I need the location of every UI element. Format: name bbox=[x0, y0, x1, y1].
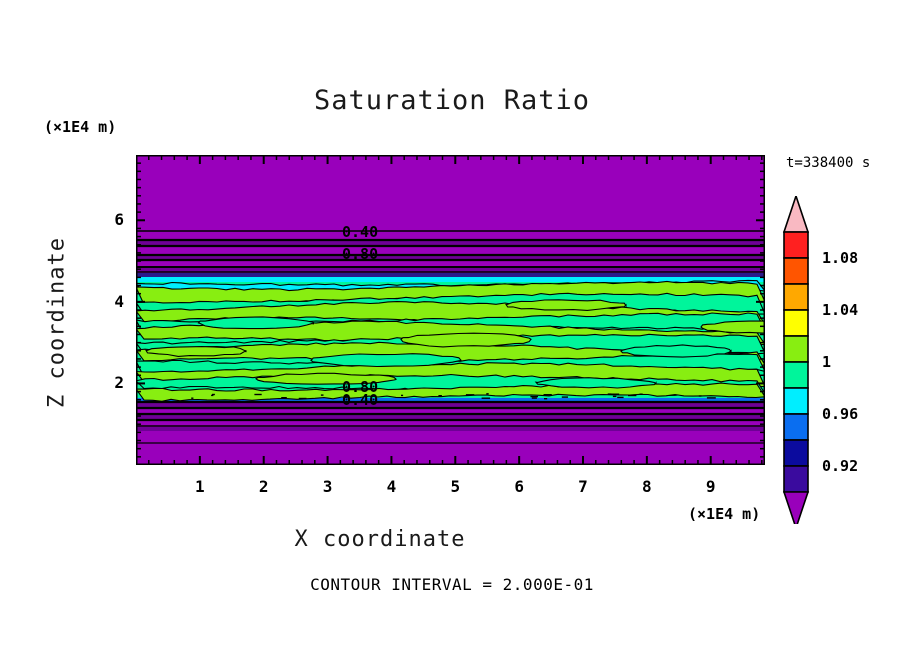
contour-inline-label: 0.80 bbox=[342, 245, 378, 263]
contour-speckle bbox=[707, 397, 716, 398]
x-tick-label: 8 bbox=[632, 477, 662, 496]
y-tick-label: 6 bbox=[94, 210, 124, 229]
contour-speckle bbox=[321, 394, 324, 395]
page-title: Saturation Ratio bbox=[0, 85, 904, 116]
contour-speckle bbox=[699, 395, 702, 396]
contour-inline-label: 0.40 bbox=[342, 391, 378, 409]
y-axis-title: Z coordinate bbox=[45, 223, 70, 423]
contour-speckle bbox=[640, 394, 643, 395]
x-tick-label: 5 bbox=[440, 477, 470, 496]
y-tick-label: 4 bbox=[94, 292, 124, 311]
x-tick-label: 3 bbox=[313, 477, 343, 496]
contour-interval-caption: CONTOUR INTERVAL = 2.000E-01 bbox=[0, 575, 904, 594]
contour-speckle bbox=[530, 396, 538, 397]
colorbar-band-1 bbox=[784, 258, 808, 284]
contour-speckle bbox=[486, 393, 488, 394]
contour-speckle bbox=[482, 398, 491, 399]
colorbar-band-0 bbox=[784, 232, 808, 258]
contour-speckle bbox=[544, 394, 552, 395]
contour-speckle bbox=[299, 398, 307, 399]
colorbar-band-7 bbox=[784, 414, 808, 440]
colorbar-band-6 bbox=[784, 388, 808, 414]
x-axis-title: X coordinate bbox=[0, 527, 760, 552]
x-tick-label: 1 bbox=[185, 477, 215, 496]
contour-speckle bbox=[617, 397, 623, 398]
colorbar-tick-label: 1 bbox=[822, 353, 831, 371]
contour-field-svg bbox=[136, 155, 765, 465]
x-tick-label: 9 bbox=[696, 477, 726, 496]
contour-speckle bbox=[281, 397, 287, 398]
contour-speckle bbox=[401, 395, 403, 396]
x-tick-label: 6 bbox=[504, 477, 534, 496]
contour-inline-label: 0.40 bbox=[342, 223, 378, 241]
x-unit-label: (×1E4 m) bbox=[688, 505, 760, 523]
colorbar-band-2 bbox=[784, 284, 808, 310]
colorbar-svg bbox=[778, 196, 818, 524]
colorbar-tick-label: 0.92 bbox=[822, 457, 858, 475]
colorbar-tick-label: 1.04 bbox=[822, 301, 858, 319]
contour-speckle bbox=[212, 394, 215, 395]
colorbar-tick-label: 0.96 bbox=[822, 405, 858, 423]
contour-speckle bbox=[191, 398, 193, 399]
contour-speckle bbox=[544, 398, 547, 399]
colorbar-tick-label: 1.08 bbox=[822, 249, 858, 267]
contour-speckle bbox=[532, 397, 537, 398]
contour-speckle bbox=[254, 394, 261, 395]
x-tick-label: 7 bbox=[568, 477, 598, 496]
contour-plot-area: 123456789 246 0.400.800.800.40 bbox=[136, 155, 765, 465]
time-annotation: t=338400 s bbox=[786, 155, 870, 171]
colorbar: 1.081.0410.960.92 bbox=[778, 196, 818, 528]
y-tick-label: 2 bbox=[94, 373, 124, 392]
colorbar-band-5 bbox=[784, 362, 808, 388]
colorbar-band-4 bbox=[784, 336, 808, 362]
contour-speckle bbox=[611, 394, 619, 395]
colorbar-band-3 bbox=[784, 310, 808, 336]
contour-speckle bbox=[466, 394, 474, 395]
colorbar-band-8 bbox=[784, 440, 808, 466]
upper-cyan-band bbox=[136, 277, 765, 282]
upper-blue-transition bbox=[136, 273, 765, 277]
contour-speckle bbox=[613, 396, 617, 397]
contour-speckle bbox=[608, 393, 612, 394]
y-unit-label: (×1E4 m) bbox=[44, 118, 116, 136]
lower-dark-band-3 bbox=[136, 427, 765, 431]
contour-speckle bbox=[628, 395, 636, 396]
contour-speckle bbox=[562, 396, 568, 397]
x-tick-label: 2 bbox=[249, 477, 279, 496]
contour-speckle bbox=[438, 395, 442, 396]
colorbar-band-9 bbox=[784, 466, 808, 492]
colorbar-under-arrow bbox=[784, 492, 808, 524]
x-tick-label: 4 bbox=[376, 477, 406, 496]
colorbar-over-arrow bbox=[784, 196, 808, 232]
